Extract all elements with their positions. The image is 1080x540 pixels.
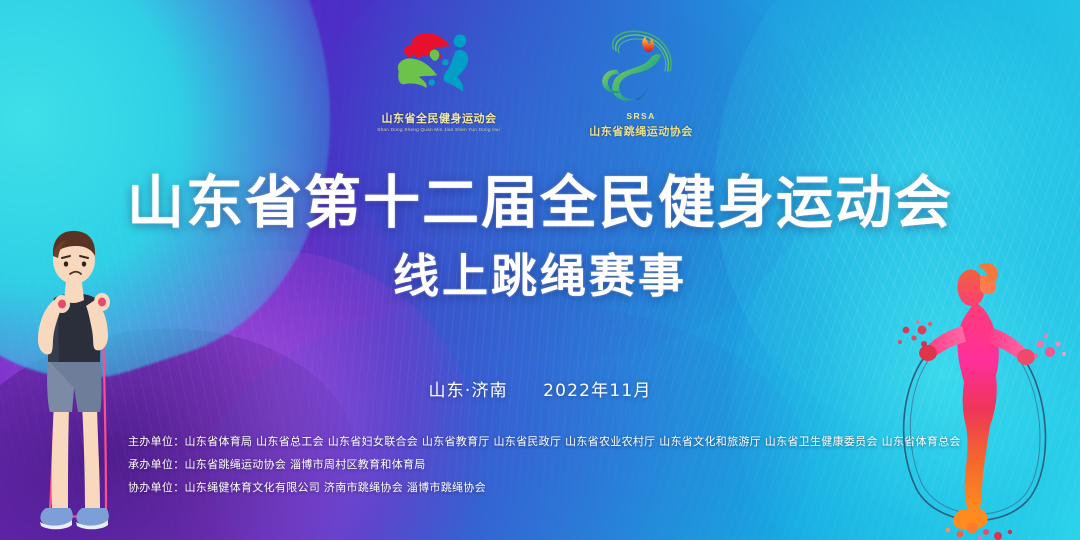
srsa-logo-chinese: 山东省跳绳运动协会 xyxy=(589,123,693,139)
paint-splatter-right xyxy=(1034,334,1066,358)
credit-line-organizer: 承办单位：山东省跳绳运动协会 淄博市周村区教育和体育局 xyxy=(128,453,961,476)
fitness-games-mark-icon xyxy=(383,24,495,108)
srsa-jumprope-mark-icon xyxy=(585,24,697,108)
event-date: 2022年11月 xyxy=(543,381,652,401)
event-location: 山东·济南 xyxy=(428,381,507,401)
shandong-fitness-games-logo: 山东省全民健身运动会 Shan Dong Sheng Quan Min Jian… xyxy=(369,24,509,133)
fitness-games-logo-pinyin: Shan Dong Sheng Quan Min Jian Shen Yun D… xyxy=(378,127,501,133)
organizer-credits: 主办单位：山东省体育局 山东省总工会 山东省妇女联合会 山东省教育厅 山东省民政… xyxy=(128,430,961,499)
srsa-logo-abbr: SRSA xyxy=(626,111,655,121)
fitness-games-logo-chinese: 山东省全民健身运动会 xyxy=(382,110,497,126)
credit-line-host: 主办单位：山东省体育局 山东省总工会 山东省妇女联合会 山东省教育厅 山东省民政… xyxy=(128,430,961,453)
srsa-logo: SRSA 山东省跳绳运动协会 xyxy=(571,24,711,139)
credit-line-coorganizer: 协办单位：山东绳健体育文化有限公司 济南市跳绳协会 淄博市跳绳协会 xyxy=(128,476,961,499)
logo-row: 山东省全民健身运动会 Shan Dong Sheng Quan Min Jian… xyxy=(0,24,1080,139)
poster-banner: 山东省全民健身运动会 Shan Dong Sheng Quan Min Jian… xyxy=(0,0,1080,540)
paint-splatter-left xyxy=(898,320,932,347)
female-jumprope-silhouette xyxy=(876,226,1076,540)
bg-wave-blue-lower xyxy=(210,300,810,540)
male-jumprope-illustration xyxy=(6,212,136,540)
